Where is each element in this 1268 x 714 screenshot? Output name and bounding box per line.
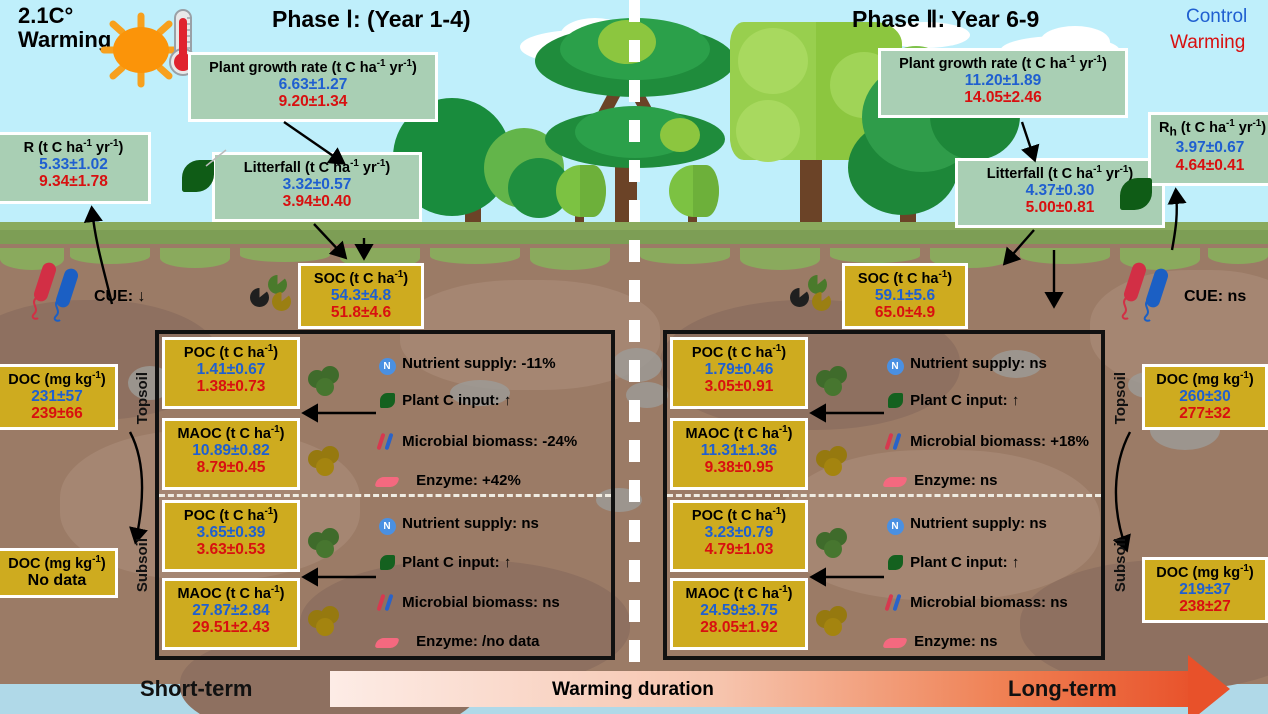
warming-value: 277±32 — [1152, 405, 1258, 422]
grass-fringe — [640, 248, 730, 264]
control-value: 10.89±0.82 — [172, 442, 290, 459]
phase1-doc-subsoil-box: DOC (mg kg-1) No data — [0, 548, 118, 598]
box-title: POC (t C ha-1) — [172, 343, 290, 361]
respiration-arrow — [1158, 186, 1208, 256]
litterfall-leaf-stem — [204, 148, 230, 168]
box-title: Rh (t C ha-1 yr-1) — [1159, 118, 1261, 139]
bullet-label: Nutrient supply: -11% — [402, 355, 555, 372]
bullet-label: Plant C input: ↑ — [910, 554, 1019, 571]
control-value: 54.3±4.8 — [308, 287, 414, 304]
bullet-label: Nutrient supply: ns — [910, 355, 1047, 372]
bullet-label: Microbial biomass: -24% — [402, 433, 577, 450]
warming-value: 28.05±1.92 — [680, 619, 798, 636]
phase2-plant-growth-box: Plant growth rate (t C ha-1 yr-1) 11.20±… — [878, 48, 1128, 118]
microbial-biomass-icon — [884, 434, 906, 451]
box-title: POC (t C ha-1) — [680, 506, 798, 524]
bullet-label: Nutrient supply: ns — [402, 515, 539, 532]
control-value: 1.79±0.46 — [680, 361, 798, 378]
tree-canopy — [660, 118, 700, 152]
grass-fringe — [430, 248, 520, 264]
warming-value: 14.05±2.46 — [889, 89, 1117, 106]
bullet-label: Microbial biomass: ns — [402, 594, 560, 611]
phase1-subsoil-maoc-box: MAOC (t C ha-1) 27.87±2.84 29.51±2.43 — [162, 578, 300, 650]
warming-duration-label: Warming duration — [552, 679, 714, 701]
bullet-label: Enzyme: ns — [914, 633, 997, 650]
phase1-subsoil-poc-box: POC (t C ha-1) 3.65±0.39 3.63±0.53 — [162, 500, 300, 572]
no-data-label: No data — [6, 572, 108, 590]
phase1-subsoil-bullet-nutrient: N Nutrient supply: ns — [376, 513, 539, 535]
box-title: DOC (mg kg-1) — [1152, 563, 1258, 581]
poc-microbe-cluster-icon — [816, 528, 854, 558]
warming-value: 4.79±1.03 — [680, 541, 798, 558]
soc-down-arrow — [1042, 250, 1066, 316]
box-title: Plant growth rate (t C ha-1 yr-1) — [199, 58, 427, 76]
warming-value: 9.20±1.34 — [199, 93, 427, 110]
nutrient-icon: N — [376, 513, 398, 535]
box-title: SOC (t C ha-1) — [308, 269, 414, 287]
phase1-topsoil-bullet-biomass: Microbial biomass: -24% — [376, 433, 577, 451]
grass-fringe — [530, 248, 610, 270]
phase2-title: Phase Ⅱ: Year 6-9 — [852, 6, 1039, 33]
warming-value: 3.63±0.53 — [172, 541, 290, 558]
box-title: R (t C ha-1 yr-1) — [7, 138, 140, 156]
phase2-topsoil-driver-arrow — [808, 406, 888, 420]
nutrient-icon: N — [884, 353, 906, 375]
maoc-microbe-cluster-icon — [308, 446, 346, 476]
box-title: MAOC (t C ha-1) — [172, 584, 290, 602]
phase1-subsoil-bullet-plantc: Plant C input: ↑ — [376, 554, 511, 572]
box-title: POC (t C ha-1) — [680, 343, 798, 361]
phase2-subsoil-bullet-biomass: Microbial biomass: ns — [884, 594, 1068, 612]
enzyme-icon — [376, 634, 398, 651]
control-value: 11.31±1.36 — [680, 442, 798, 459]
figure-canvas: 2.1C° Warming Phase Ⅰ: (Year 1-4) Phase … — [0, 0, 1268, 714]
soc-down-arrow — [352, 238, 376, 268]
phase1-subsoil-driver-arrow — [300, 570, 380, 584]
phase1-topsoil-poc-box: POC (t C ha-1) 1.41±0.67 1.38±0.73 — [162, 337, 300, 409]
plant-growth-to-litterfall-arrow — [280, 120, 370, 180]
phase1-plant-growth-box: Plant growth rate (t C ha-1 yr-1) 6.63±1… — [188, 52, 438, 122]
tree-canopy — [693, 165, 719, 217]
warming-value: 9.34±1.78 — [7, 173, 140, 190]
control-value: 6.63±1.27 — [199, 76, 427, 93]
legend-warming: Warming — [1170, 32, 1245, 54]
control-value: 11.20±1.89 — [889, 72, 1117, 89]
phase2-cue-label: CUE: ns — [1184, 288, 1246, 306]
grass-fringe — [160, 248, 230, 268]
phase2-topsoil-bullet-enzyme: Enzyme: ns — [884, 472, 998, 490]
enzyme-icon — [376, 473, 398, 490]
phase2-doc-subsoil-box: DOC (mg kg-1) 219±37 238±27 — [1142, 557, 1268, 623]
bullet-label: Microbial biomass: ns — [910, 594, 1068, 611]
phase1-cue-label: CUE: ↓ — [94, 288, 146, 306]
bullet-label: Nutrient supply: ns — [910, 515, 1047, 532]
tree-canopy — [738, 28, 808, 94]
maoc-microbe-cluster-icon — [308, 606, 346, 636]
box-title: MAOC (t C ha-1) — [680, 424, 798, 442]
phase1-subsoil-bullet-enzyme: Enzyme: /no data — [376, 633, 540, 651]
phase-divider — [629, 0, 640, 690]
control-value: 3.23±0.79 — [680, 524, 798, 541]
control-value: 3.97±0.67 — [1159, 139, 1261, 156]
warming-value: 9.38±0.95 — [680, 459, 798, 476]
phase2-topsoil-maoc-box: MAOC (t C ha-1) 11.31±1.36 9.38±0.95 — [670, 418, 808, 490]
phase1-subsoil-label: Subsoil — [134, 538, 151, 592]
control-value: 59.1±5.6 — [852, 287, 958, 304]
bullet-label: Microbial biomass: +18% — [910, 433, 1089, 450]
nutrient-icon: N — [884, 513, 906, 535]
box-title: Plant growth rate (t C ha-1 yr-1) — [889, 54, 1117, 72]
phase1-title: Phase Ⅰ: (Year 1-4) — [272, 6, 471, 33]
plant-growth-to-litterfall-arrow — [1018, 120, 1058, 168]
poc-microbe-cluster-icon — [816, 366, 854, 396]
warming-value: 8.79±0.45 — [172, 459, 290, 476]
phase2-topsoil-bullet-biomass: Microbial biomass: +18% — [884, 433, 1089, 451]
phase1-topsoil-maoc-box: MAOC (t C ha-1) 10.89±0.82 8.79±0.45 — [162, 418, 300, 490]
long-term-label: Long-term — [1008, 676, 1117, 702]
control-value: 24.59±3.75 — [680, 602, 798, 619]
phase1-soc-box: SOC (t C ha-1) 54.3±4.8 51.8±4.6 — [298, 263, 424, 329]
control-value: 260±30 — [1152, 388, 1258, 405]
control-value: 1.41±0.67 — [172, 361, 290, 378]
maoc-microbe-cluster-icon — [816, 606, 854, 636]
phase2-subsoil-bullet-nutrient: N Nutrient supply: ns — [884, 513, 1047, 535]
warming-value: 65.0±4.9 — [852, 304, 958, 321]
grass-fringe — [830, 248, 920, 263]
leaf-icon — [376, 393, 398, 410]
phase1-subsoil-bullet-biomass: Microbial biomass: ns — [376, 594, 560, 612]
bacteria-flagella — [1118, 296, 1168, 322]
short-term-label: Short-term — [140, 676, 252, 702]
bullet-label: Enzyme: /no data — [416, 633, 539, 650]
leaf-icon — [884, 393, 906, 410]
bullet-label: Enzyme: ns — [914, 472, 997, 489]
leaf-icon — [884, 555, 906, 572]
warming-value: 51.8±4.6 — [308, 304, 414, 321]
phase2-subsoil-bullet-plantc: Plant C input: ↑ — [884, 554, 1019, 572]
warming-value: 1.38±0.73 — [172, 378, 290, 395]
box-title: DOC (mg kg-1) — [6, 554, 108, 572]
bullet-label: Plant C input: ↑ — [402, 392, 511, 409]
tree-canopy — [736, 100, 800, 162]
bacteria-flagella — [28, 296, 78, 322]
bullet-label: Enzyme: +42% — [416, 472, 521, 489]
bullet-label: Plant C input: ↑ — [910, 392, 1019, 409]
microbial-biomass-icon — [884, 595, 906, 612]
tree-canopy — [598, 20, 656, 64]
tree-canopy — [580, 165, 606, 217]
phase2-doc-topsoil-box: DOC (mg kg-1) 260±30 277±32 — [1142, 364, 1268, 430]
box-title: SOC (t C ha-1) — [852, 269, 958, 287]
nutrient-icon: N — [376, 353, 398, 375]
phase2-topsoil-bullet-nutrient: N Nutrient supply: ns — [884, 353, 1047, 375]
phase1-topsoil-label: Topsoil — [134, 372, 151, 424]
phase1-topsoil-subsoil-divider — [159, 494, 611, 497]
warming-duration-arrowhead — [1188, 655, 1230, 714]
phase1-doc-topsoil-box: DOC (mg kg-1) 231±57 239±66 — [0, 364, 118, 430]
warming-value: 3.05±0.91 — [680, 378, 798, 395]
legend-control: Control — [1186, 6, 1247, 28]
phase2-topsoil-subsoil-divider — [667, 494, 1101, 497]
phase2-respiration-box: Rh (t C ha-1 yr-1) 3.97±0.67 4.64±0.41 — [1148, 112, 1268, 186]
grass-fringe — [1208, 248, 1268, 264]
warming-value: 238±27 — [1152, 598, 1258, 615]
phase2-topsoil-bullet-plantc: Plant C input: ↑ — [884, 392, 1019, 410]
phase1-topsoil-bullet-plantc: Plant C input: ↑ — [376, 392, 511, 410]
enzyme-icon — [884, 634, 906, 651]
warming-value: 29.51±2.43 — [172, 619, 290, 636]
box-title: Litterfall (t C ha-1 yr-1) — [966, 164, 1154, 182]
phase2-subsoil-maoc-box: MAOC (t C ha-1) 24.59±3.75 28.05±1.92 — [670, 578, 808, 650]
phase2-subsoil-driver-arrow — [808, 570, 888, 584]
poc-microbe-cluster-icon — [308, 366, 346, 396]
enzyme-icon — [884, 473, 906, 490]
phase2-subsoil-label: Subsoil — [1112, 538, 1129, 592]
maoc-microbe-cluster-icon — [816, 446, 854, 476]
phase1-respiration-box: R (t C ha-1 yr-1) 5.33±1.02 9.34±1.78 — [0, 132, 151, 204]
phase1-topsoil-bullet-enzyme: Enzyme: +42% — [376, 472, 521, 490]
warming-value: 4.64±0.41 — [1159, 157, 1261, 174]
phase2-topsoil-label: Topsoil — [1112, 372, 1129, 424]
box-title: MAOC (t C ha-1) — [172, 424, 290, 442]
box-title: MAOC (t C ha-1) — [680, 584, 798, 602]
leaf-icon — [376, 555, 398, 572]
phase2-soc-box: SOC (t C ha-1) 59.1±5.6 65.0±4.9 — [842, 263, 968, 329]
warming-magnitude-value: 2.1C° — [18, 3, 73, 28]
control-value: 3.65±0.39 — [172, 524, 290, 541]
control-value: 27.87±2.84 — [172, 602, 290, 619]
box-title: DOC (mg kg-1) — [1152, 370, 1258, 388]
phase2-subsoil-poc-box: POC (t C ha-1) 3.23±0.79 4.79±1.03 — [670, 500, 808, 572]
control-value: 231±57 — [6, 388, 108, 405]
microbial-biomass-icon — [376, 595, 398, 612]
phase2-topsoil-poc-box: POC (t C ha-1) 1.79±0.46 3.05±0.91 — [670, 337, 808, 409]
grass-fringe — [740, 248, 820, 270]
phase2-subsoil-bullet-enzyme: Enzyme: ns — [884, 633, 998, 651]
poc-microbe-cluster-icon — [308, 528, 346, 558]
box-title: DOC (mg kg-1) — [6, 370, 108, 388]
warming-value: 239±66 — [6, 405, 108, 422]
bullet-label: Plant C input: ↑ — [402, 554, 511, 571]
phase1-topsoil-driver-arrow — [300, 406, 380, 420]
box-title: POC (t C ha-1) — [172, 506, 290, 524]
control-value: 5.33±1.02 — [7, 156, 140, 173]
microbial-biomass-icon — [376, 434, 398, 451]
warming-value: 3.94±0.40 — [223, 193, 411, 210]
control-value: 219±37 — [1152, 581, 1258, 598]
phase1-topsoil-bullet-nutrient: N Nutrient supply: -11% — [376, 353, 556, 375]
